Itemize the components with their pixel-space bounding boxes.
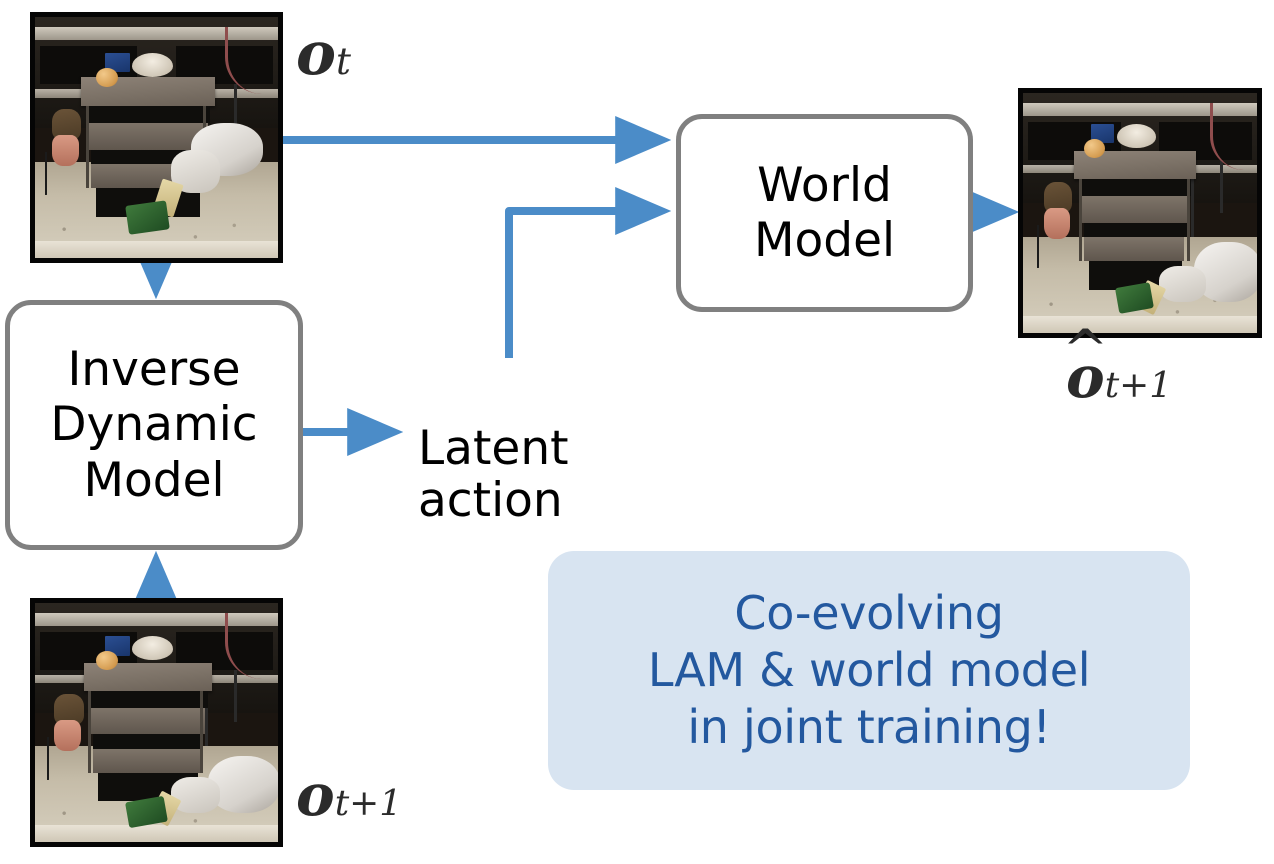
label-obs-t: ot (296, 24, 351, 84)
box-inverse-dynamic-model-label: Inverse Dynamic Model (50, 342, 257, 508)
callout-text: Co-evolving LAM & world model in joint t… (648, 585, 1090, 756)
photo-obs-t1 (35, 603, 278, 842)
label-obs-hat-t1: ^ot+1 (1066, 348, 1172, 406)
arrow-latent-action-to-world-model (509, 211, 660, 358)
hat-accent-icon: ^ (1062, 323, 1108, 378)
photo-obs-hat-t1 (1023, 93, 1257, 333)
observation-frame-obs-t (30, 12, 283, 263)
observation-frame-obs-t1 (30, 598, 283, 847)
callout-co-evolving: Co-evolving LAM & world model in joint t… (548, 551, 1190, 790)
label-obs-hat-t1-sub: t+1 (1105, 365, 1172, 406)
diagram-canvas: ot (0, 0, 1274, 864)
box-world-model-label: World Model (754, 158, 895, 269)
box-world-model[interactable]: World Model (676, 114, 973, 312)
label-latent-action-text: Latent action (418, 421, 569, 529)
observation-frame-obs-hat-t1 (1018, 88, 1262, 338)
label-obs-t-base: o (296, 19, 336, 89)
label-obs-t1: ot+1 (296, 766, 402, 824)
label-obs-t-sub: t (336, 39, 351, 83)
photo-obs-t (35, 17, 278, 258)
label-obs-t1-base: o (296, 761, 335, 829)
label-obs-t1-sub: t+1 (335, 783, 402, 824)
label-obs-hat-wrap: ^o (1066, 348, 1105, 406)
label-latent-action: Latent action (418, 370, 569, 528)
box-inverse-dynamic-model[interactable]: Inverse Dynamic Model (5, 300, 303, 550)
